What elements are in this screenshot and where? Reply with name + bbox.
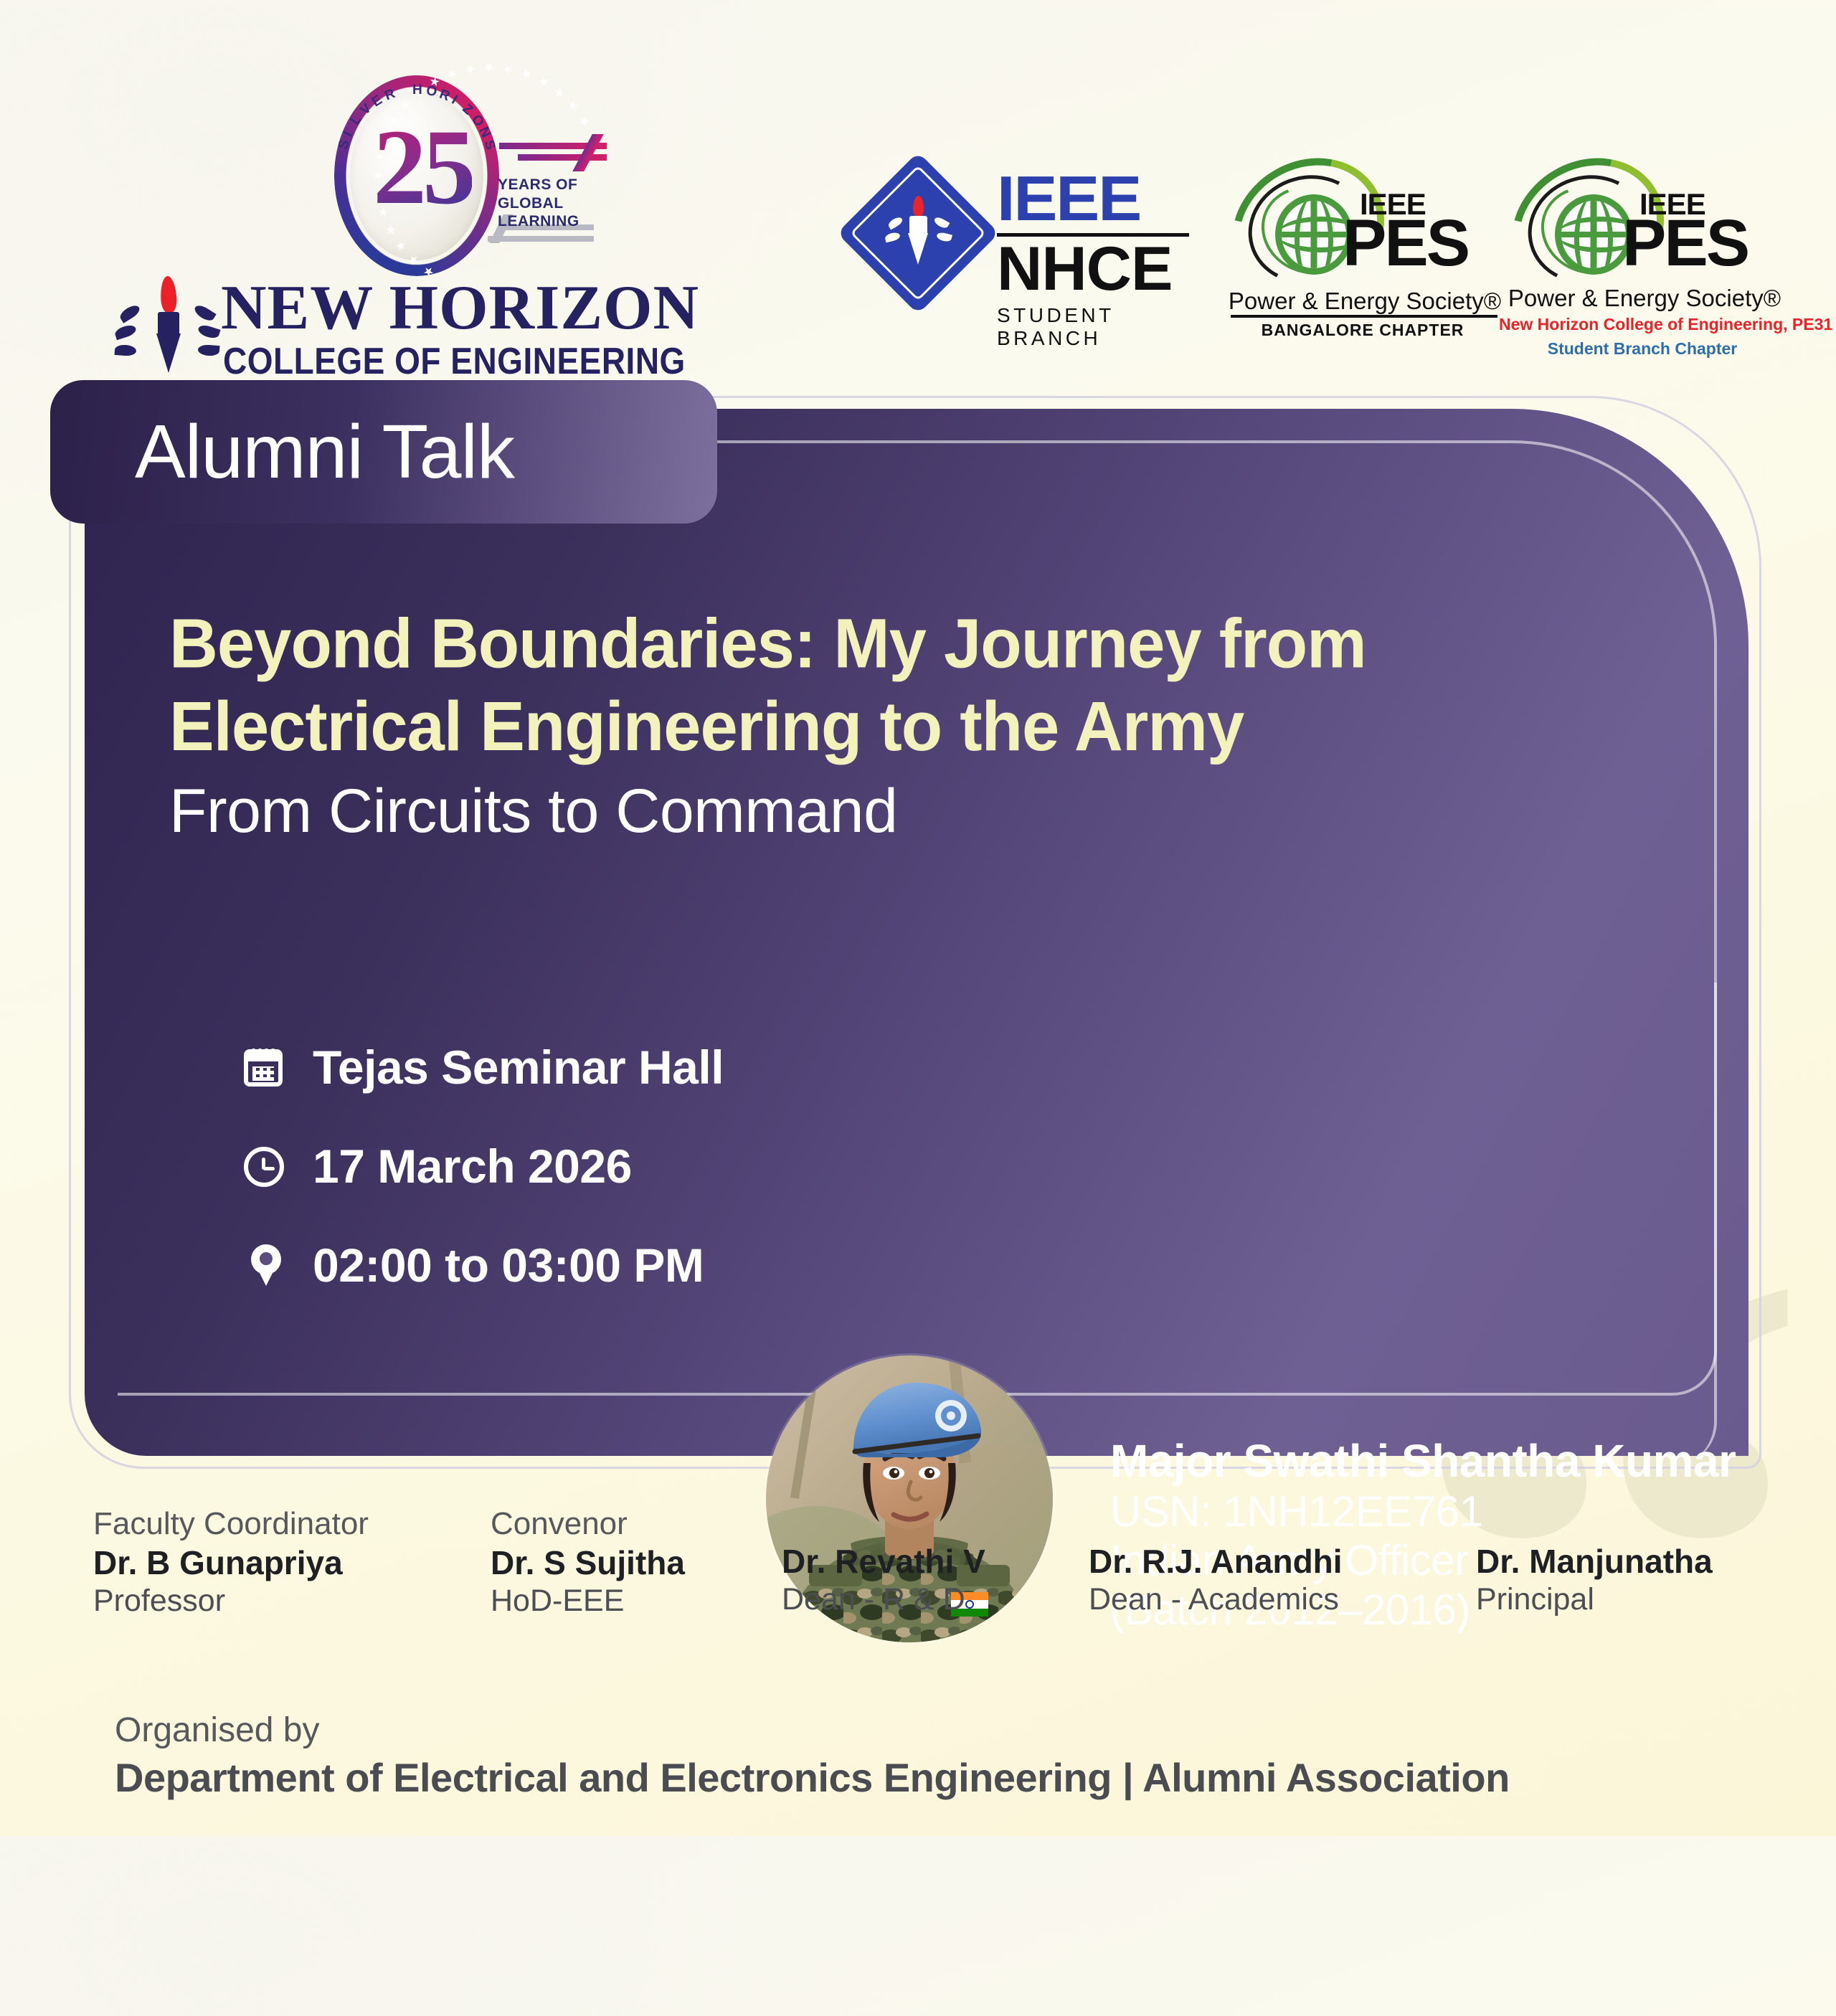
calendar-icon (244, 1045, 288, 1089)
pes-society-label: Power & Energy Society® (1502, 285, 1787, 312)
ieee-pes-bangalore-logo: IEEE PES Power & Energy Society® BANGALO… (1219, 161, 1506, 341)
pes-chapter-label: Student Branch Chapter (1499, 339, 1786, 359)
faculty-dean-rd: Dr. Revathi V Dean - R & D (782, 1541, 985, 1617)
silver-jubilee-badge-icon: ★★★★★★★★★★★★★★★★★★★★★★ SILVER HORIZONS 2… (321, 68, 608, 283)
event-card: Beyond Boundaries: My Journey from Elect… (85, 409, 1749, 1456)
faculty-dean-academics: Dr. R.J. Anandhi Dean - Academics (1089, 1541, 1343, 1617)
faculty-role: Convenor (491, 1506, 685, 1542)
nhce-wordmark: NHCE (997, 238, 1202, 300)
pes-label: PES (1343, 210, 1468, 276)
event-details: Tejas Seminar Hall 17 March 2026 02:00 t… (244, 1040, 789, 1337)
anniversary-number: 25 (373, 105, 472, 229)
venue-text: Tejas Seminar Hall (313, 1040, 724, 1094)
detail-venue: Tejas Seminar Hall (244, 1040, 789, 1094)
ieee-pes-nhce-logo: IEEE PES Power & Energy Society® New Hor… (1499, 161, 1786, 341)
torch-laurel-icon (113, 276, 221, 373)
faculty-name: Dr. S Sujitha (491, 1543, 685, 1582)
clock-icon (244, 1144, 288, 1188)
ieee-nhce-student-branch-logo: IEEE NHCE STUDENT BRANCH (861, 169, 1191, 333)
talk-title: Beyond Boundaries: My Journey from Elect… (169, 602, 1532, 768)
faculty-convenor: Convenor Dr. S Sujitha HoD-EEE (491, 1506, 685, 1619)
college-subtitle: COLLEGE OF ENGINEERING (223, 339, 686, 382)
pes-institution-label: New Horizon College of Engineering, PE31 (1499, 315, 1786, 334)
pes-chapter-label: BANGALORE CHAPTER (1219, 321, 1506, 340)
anniversary-years-text: YEARS OF GLOBAL LEARNING (498, 176, 612, 231)
speaker-name: Major Swathi Shantha Kumar (1110, 1434, 1827, 1487)
faculty-name: Dr. B Gunapriya (93, 1543, 369, 1582)
pes-society-label: Power & Energy Society® (1222, 288, 1508, 315)
faculty-name: Dr. Revathi V (782, 1542, 985, 1581)
header-logos: ★★★★★★★★★★★★★★★★★★★★★★ SILVER HORIZONS 2… (0, 0, 1836, 402)
organised-by: Organised by Department of Electrical an… (115, 1710, 1510, 1801)
faculty-designation: Principal (1476, 1582, 1713, 1617)
new-horizon-college-logo: ★★★★★★★★★★★★★★★★★★★★★★ SILVER HORIZONS 2… (106, 68, 723, 369)
faculty-name: Dr. Manjunatha (1476, 1542, 1713, 1581)
faculty-designation: Professor (93, 1584, 369, 1619)
detail-date: 17 March 2026 (244, 1139, 789, 1193)
organising-department: Department of Electrical and Electronics… (115, 1754, 1510, 1801)
time-text: 02:00 to 03:00 PM (313, 1238, 704, 1292)
faculty-designation: Dean - R & D (782, 1582, 985, 1617)
college-name: NEW HORIZON (221, 272, 699, 344)
ieee-wordmark: IEEE (997, 169, 1206, 229)
talk-subtitle: From Circuits to Command (169, 775, 1749, 848)
detail-time: 02:00 to 03:00 PM (244, 1238, 789, 1292)
faculty-designation: Dean - Academics (1089, 1582, 1343, 1617)
organised-by-label: Organised by (115, 1710, 1510, 1750)
location-pin-icon (244, 1243, 288, 1287)
speaker-usn: USN: 1NH12EE761 (1110, 1487, 1827, 1536)
ieee-torch-icon (884, 199, 952, 268)
arrow-decoration-icon (499, 143, 607, 171)
faculty-role: Faculty Coordinator (93, 1506, 369, 1542)
faculty-name: Dr. R.J. Anandhi (1089, 1542, 1343, 1581)
alumni-talk-tab-label: Alumni Talk (135, 409, 514, 496)
faculty-designation: HoD-EEE (491, 1584, 685, 1619)
faculty-principal: Dr. Manjunatha Principal (1476, 1541, 1713, 1617)
student-branch-label: STUDENT BRANCH (997, 304, 1198, 350)
pes-globe-icon (1555, 194, 1632, 275)
pes-divider (1231, 315, 1497, 318)
pes-label: PES (1622, 210, 1748, 276)
alumni-talk-tab[interactable]: Alumni Talk (50, 380, 717, 524)
pes-globe-icon (1275, 194, 1353, 275)
faculty-coordinator: Faculty Coordinator Dr. B Gunapriya Prof… (93, 1506, 369, 1619)
date-text: 17 March 2026 (313, 1139, 632, 1193)
